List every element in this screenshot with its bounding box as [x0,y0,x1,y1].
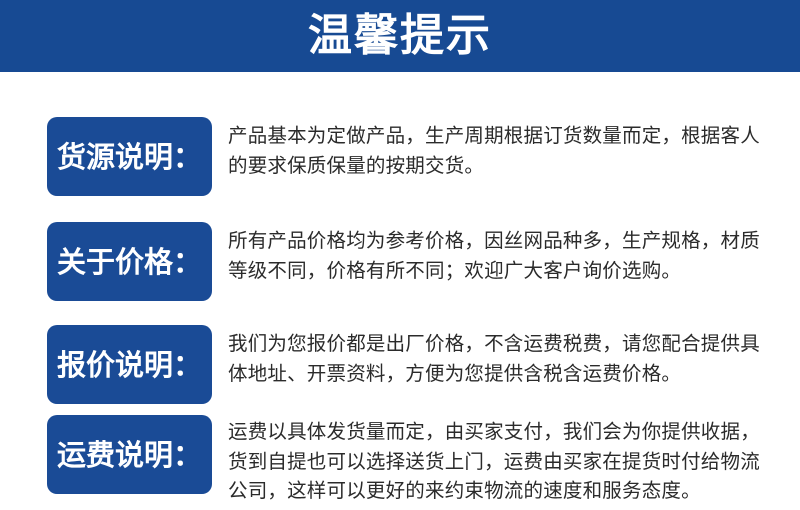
section-body-text: 所有产品价格均为参考价格，因丝网品种多，生产规格，材质等级不同，价格有所不同；欢… [228,222,773,285]
section-body-text: 我们为您报价都是出厂价格，不含运费税费，请您配合提供具体地址、开票资料，方便为您… [228,325,773,388]
section-label-text: 报价说明： [57,350,202,380]
section-label-badge-price: 关于价格： [47,222,212,301]
section-label-text: 关于价格： [57,247,202,277]
page-title: 温馨提示 [308,14,492,58]
header-banner: 温馨提示 [0,0,800,72]
section-body-text: 运费以具体发货量而定，由买家支付，我们会为你提供收据，货到自提也可以选择送货上门… [228,415,773,506]
notice-row: 运费说明： 运费以具体发货量而定，由买家支付，我们会为你提供收据，货到自提也可以… [0,415,800,506]
section-label-badge-quotation: 报价说明： [47,325,212,404]
notice-row: 关于价格： 所有产品价格均为参考价格，因丝网品种多，生产规格，材质等级不同，价格… [0,222,800,301]
section-label-text: 运费说明： [57,440,202,470]
notice-page: 温馨提示 货源说明： 产品基本为定做产品，生产周期根据订货数量而定，根据客人的要… [0,0,800,510]
section-label-badge-freight: 运费说明： [47,415,212,494]
notice-row: 报价说明： 我们为您报价都是出厂价格，不含运费税费，请您配合提供具体地址、开票资… [0,325,800,404]
section-label-text: 货源说明： [57,142,202,172]
notice-sections: 货源说明： 产品基本为定做产品，生产周期根据订货数量而定，根据客人的要求保质保量… [0,72,800,510]
section-label-badge-supply: 货源说明： [47,117,212,196]
section-body-text: 产品基本为定做产品，生产周期根据订货数量而定，根据客人的要求保质保量的按期交货。 [228,117,773,180]
notice-row: 货源说明： 产品基本为定做产品，生产周期根据订货数量而定，根据客人的要求保质保量… [0,117,800,196]
